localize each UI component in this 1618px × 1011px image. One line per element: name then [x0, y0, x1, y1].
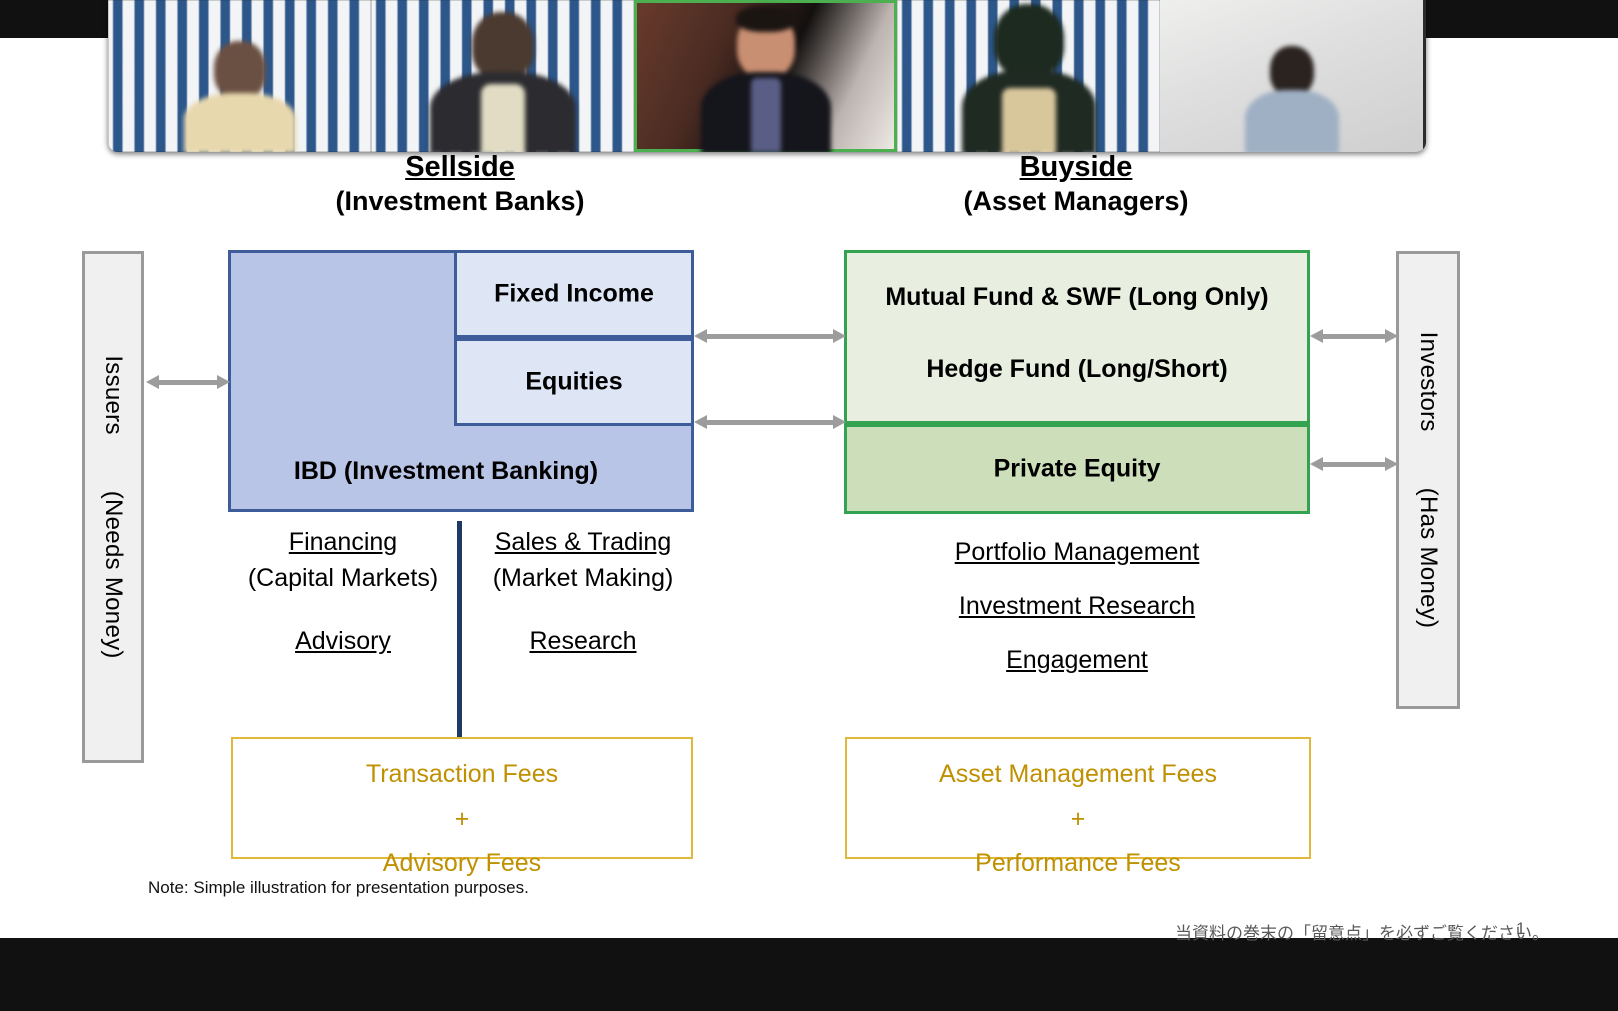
- arrow-head-right-icon: [833, 415, 846, 429]
- issuers-rail: Issuers (Needs Money): [82, 251, 144, 763]
- fixed-income-label: Fixed Income: [457, 280, 691, 309]
- screen-share-view: Sellside (Investment Banks) Buyside (Ass…: [0, 0, 1618, 1011]
- participant-silhouette: [428, 12, 578, 152]
- service-research: Research: [468, 624, 698, 660]
- arrow-shaft: [1322, 462, 1386, 467]
- video-tile-participant-2[interactable]: [371, 0, 634, 152]
- investors-label-line1: Investors: [1415, 332, 1442, 432]
- video-tile-participant-3-active-speaker[interactable]: [634, 0, 897, 152]
- sellside-header: Sellside (Investment Banks): [232, 150, 688, 218]
- fee-performance: Performance Fees: [847, 841, 1309, 886]
- fee-plus-sign: +: [847, 797, 1309, 842]
- private-equity-box: Private Equity: [844, 424, 1310, 514]
- hedge-fund-label: Hedge Fund (Long/Short): [847, 355, 1307, 384]
- video-tile-participant-1[interactable]: [108, 0, 371, 152]
- spacer: [468, 596, 698, 624]
- arrow-private-equity-to-investors: [1310, 457, 1398, 471]
- investors-rail: Investors (Has Money): [1396, 251, 1460, 709]
- participant-silhouette: [700, 2, 832, 152]
- service-engagement: Engagement: [844, 633, 1310, 687]
- buyside-title: Buyside: [848, 150, 1304, 185]
- sellside-services-right: Sales & Trading (Market Making) Research: [468, 525, 698, 660]
- arrow-head-right-icon: [217, 375, 230, 389]
- sellside-services-left: Financing (Capital Markets) Advisory: [228, 525, 458, 660]
- arrow-shaft: [706, 334, 834, 339]
- equities-box: Equities: [454, 338, 694, 426]
- footer-disclaimer: 当資料の巻末の「留意点」を必ずご覧ください。: [1175, 919, 1549, 944]
- service-portfolio-management: Portfolio Management: [844, 525, 1310, 579]
- participant-silhouette: [959, 4, 1099, 152]
- service-financing: Financing: [228, 525, 458, 561]
- buyside-funds-box: Mutual Fund & SWF (Long Only) Hedge Fund…: [844, 250, 1310, 424]
- buyside-services: Portfolio Management Investment Research…: [844, 525, 1310, 687]
- equities-label: Equities: [457, 368, 691, 397]
- service-sales-and-trading: Sales & Trading: [468, 525, 698, 561]
- arrow-sellside-to-buyside-top: [694, 329, 846, 343]
- arrow-shaft: [1322, 334, 1386, 339]
- participant-silhouette: [180, 37, 300, 152]
- issuers-label: Issuers (Needs Money): [99, 355, 127, 658]
- mutual-fund-label: Mutual Fund & SWF (Long Only): [847, 283, 1307, 312]
- service-market-making: (Market Making): [468, 561, 698, 597]
- participant-silhouette: [1244, 42, 1340, 152]
- investors-label: Investors (Has Money): [1414, 332, 1442, 629]
- service-capital-markets: (Capital Markets): [228, 561, 458, 597]
- investors-label-line2: (Has Money): [1415, 488, 1442, 629]
- fee-plus-sign: +: [233, 797, 691, 842]
- page-number: 1: [1516, 919, 1525, 939]
- arrow-buyside-to-investors-top: [1310, 329, 1398, 343]
- video-tile-participant-5[interactable]: [1160, 0, 1423, 152]
- slide-note: Note: Simple illustration for presentati…: [148, 878, 529, 898]
- spacer: [228, 596, 458, 624]
- arrow-shaft: [706, 420, 834, 425]
- arrow-issuers-to-sellside: [146, 375, 230, 389]
- fee-asset-management: Asset Management Fees: [847, 752, 1309, 797]
- arrow-sellside-to-buyside-bottom: [694, 415, 846, 429]
- sellside-subtitle: (Investment Banks): [232, 185, 688, 218]
- sellside-title: Sellside: [232, 150, 688, 185]
- arrow-head-right-icon: [833, 329, 846, 343]
- video-participant-strip[interactable]: [108, 0, 1426, 152]
- issuers-label-line1: Issuers: [100, 355, 127, 434]
- sellside-fees-box: Transaction Fees + Advisory Fees: [231, 737, 693, 859]
- fee-transaction: Transaction Fees: [233, 752, 691, 797]
- buyside-subtitle: (Asset Managers): [848, 185, 1304, 218]
- private-equity-label: Private Equity: [847, 455, 1307, 484]
- buyside-header: Buyside (Asset Managers): [848, 150, 1304, 218]
- issuers-label-line2: (Needs Money): [100, 491, 127, 659]
- arrow-shaft: [158, 380, 218, 385]
- buyside-fees-box: Asset Management Fees + Performance Fees: [845, 737, 1311, 859]
- arrow-head-right-icon: [1385, 457, 1398, 471]
- ibd-label: IBD (Investment Banking): [228, 457, 664, 486]
- fixed-income-box: Fixed Income: [454, 250, 694, 338]
- presentation-slide: Sellside (Investment Banks) Buyside (Ass…: [0, 38, 1618, 938]
- service-advisory: Advisory: [228, 624, 458, 660]
- video-tile-participant-4[interactable]: [897, 0, 1160, 152]
- service-investment-research: Investment Research: [844, 579, 1310, 633]
- arrow-head-right-icon: [1385, 329, 1398, 343]
